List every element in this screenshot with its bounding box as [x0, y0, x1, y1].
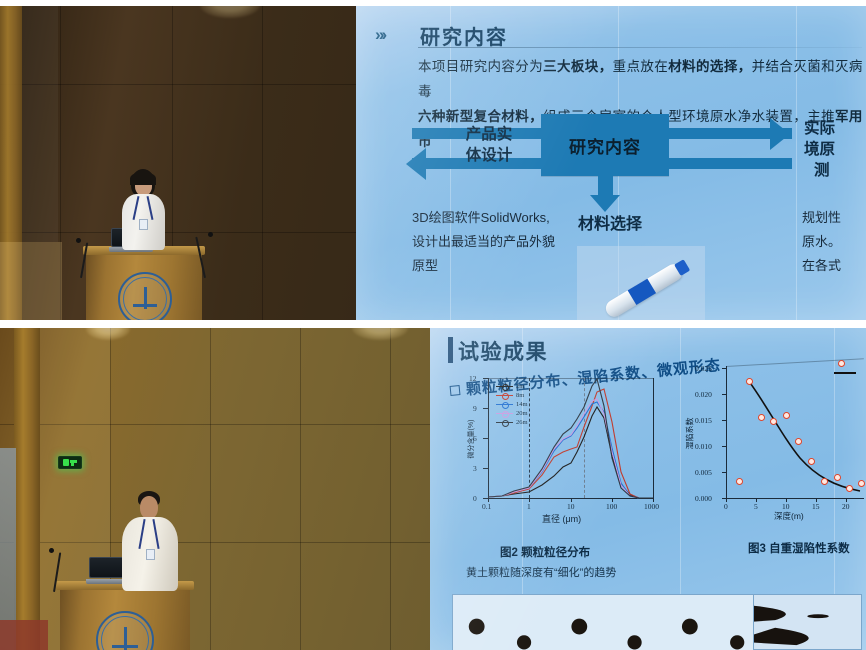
legend-item: 2m [496, 382, 528, 391]
legend-marker-icon [838, 360, 845, 367]
photo-panel-bottom: 试验成果 颗粒粒径分布、湿陷系数、微观形态 [0, 328, 866, 650]
chart-fig2: 0 3 6 9 12 0.1 1 10 100 1000 直径 [464, 374, 660, 514]
data-point [758, 414, 765, 421]
right-column-heading: 实际 境原 测 [804, 118, 866, 181]
screenshot-root: »› 研究内容 本项目研究内容分为三大板块，重点放在材料的选择，并结合灭菌和灭病… [0, 0, 866, 650]
data-point [795, 438, 802, 445]
right-column-text: 规划性 原水。 在各式 [802, 206, 866, 278]
data-point [736, 478, 743, 485]
presenter-female [118, 169, 168, 249]
legend-item: 8m [496, 391, 528, 400]
diagram-center-box: 研究内容 [541, 114, 669, 176]
body-line-1: 本项目研究内容分为三大板块，重点放在材料的选择，并结合灭菌和灭病毒 [418, 54, 866, 104]
data-point [821, 478, 828, 485]
sem-image [452, 594, 754, 650]
data-point [808, 458, 815, 465]
arrow-stem-down [598, 176, 613, 196]
name-badge [139, 219, 148, 230]
legend-item: 20m [496, 409, 528, 418]
legend-line-icon [834, 372, 856, 374]
lecture-hall-top: »› 研究内容 本项目研究内容分为三大板块，重点放在材料的选择，并结合灭菌和灭病… [0, 6, 866, 320]
podium-top [86, 246, 202, 320]
left-column-heading: 产品实 体设计 [444, 124, 534, 166]
material-selection-label: 材料选择 [560, 214, 660, 235]
projector-slide-research-content: »› 研究内容 本项目研究内容分为三大板块，重点放在材料的选择，并结合灭菌和灭病… [356, 6, 866, 320]
podium-emblem-icon-bottom [96, 611, 154, 650]
data-point [858, 480, 865, 487]
projector-slide-experiment-results: 试验成果 颗粒粒径分布、湿陷系数、微观形态 [430, 328, 866, 650]
photo-panel-top: »› 研究内容 本项目研究内容分为三大板块，重点放在材料的选择，并结合灭菌和灭病… [0, 6, 866, 320]
title-accent-bar [448, 337, 453, 363]
podium-bottom [60, 581, 190, 650]
chevron-right-icon: »› [375, 26, 384, 43]
data-point [783, 412, 790, 419]
left-column-text: 3D绘图软件SolidWorks, 设计出最适当的产品外貌 原型 [412, 206, 568, 278]
name-badge-bottom [146, 549, 155, 560]
exit-sign [58, 456, 82, 469]
arrow-head-left [406, 148, 426, 180]
square-bullet-icon [450, 385, 461, 396]
wall-pillar [14, 328, 40, 650]
fig2-caption: 图2 颗粒粒径分布 [500, 544, 590, 560]
legend-item: 26m [496, 418, 528, 427]
chart-fig3: 0.000 0.005 0.010 0.015 0.020 0.025 0 5 … [682, 358, 866, 518]
data-point [746, 378, 753, 385]
panel-gap-middle [0, 320, 866, 328]
fig3-fit-curve [682, 358, 866, 518]
slide-title: 研究内容 [420, 21, 508, 50]
sem-micrograph-strip [452, 594, 862, 650]
arrow-head-down [590, 195, 620, 212]
podium-emblem-icon [118, 272, 172, 320]
fig2-note: 黄土颗粒随深度有“细化”的趋势 [466, 564, 616, 580]
floor-mat [0, 620, 48, 650]
presenter-male [122, 491, 180, 591]
legend-item: 14m [496, 400, 528, 409]
product-prototype-image [577, 246, 705, 320]
data-point [834, 474, 841, 481]
bottle-prototype-icon [603, 261, 685, 320]
panel-gap-top [0, 0, 866, 6]
fig2-legend: 2m 8m 14m 20m [496, 382, 528, 427]
data-point [846, 485, 853, 492]
slide-title: 试验成果 [458, 336, 548, 366]
fig3-caption: 图3 自重湿陷性系数 [748, 540, 850, 556]
fig2-series-paths [464, 374, 660, 514]
arrow-head-right [770, 118, 790, 150]
data-point [770, 418, 777, 425]
lecture-hall-bottom: 试验成果 颗粒粒径分布、湿陷系数、微观形态 [0, 328, 866, 650]
